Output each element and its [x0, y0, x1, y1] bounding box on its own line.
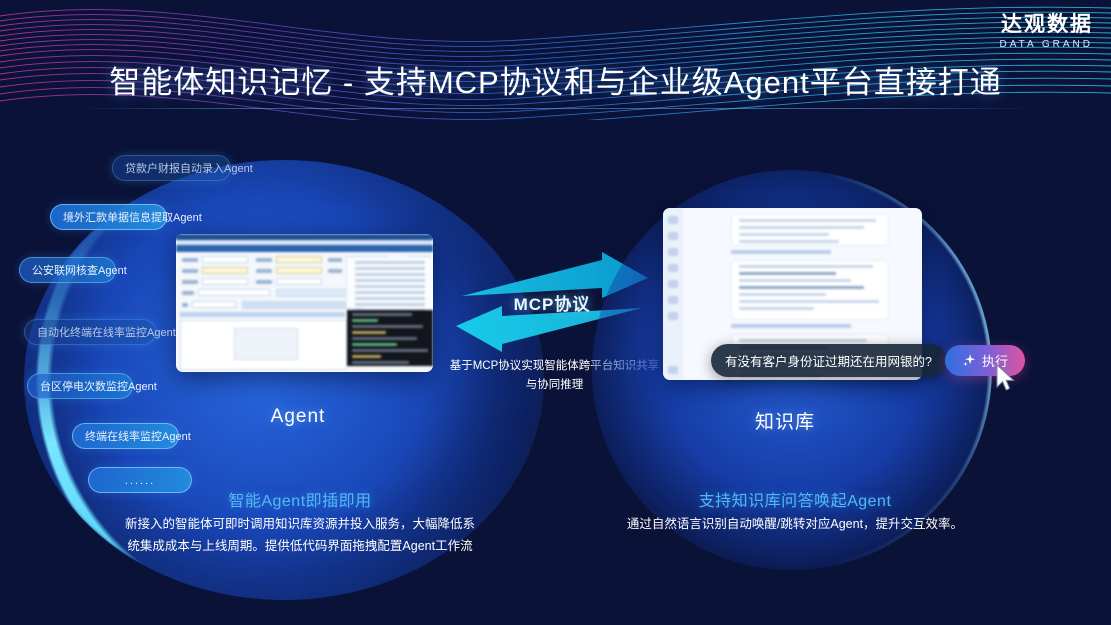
agent-circle-label: Agent [228, 406, 368, 428]
app-side-list [346, 258, 433, 308]
brand-logo: 达观数据 DATA GRAND [999, 14, 1093, 50]
agent-pill-label: 贷款户财报自动录入Agent [125, 163, 253, 175]
knowledge-base-circle-label: 知识库 [720, 407, 850, 434]
agent-pill-3[interactable]: 自动化终端在线率监控Agent [24, 319, 156, 345]
brand-name-cn: 达观数据 [999, 14, 1093, 35]
mouse-cursor-icon [995, 364, 1017, 392]
agent-pill-label: 公安联网核查Agent [32, 265, 127, 277]
page-title: 智能体知识记忆 - 支持MCP协议和与企业级Agent平台直接打通 [0, 57, 1111, 102]
slide-root: 达观数据 DATA GRAND 智能体知识记忆 - 支持MCP协议和与企业级Ag… [0, 0, 1111, 625]
agent-pill-label: ...... [125, 475, 155, 487]
agent-pill-label: 台区停电次数监控Agent [40, 381, 157, 393]
agent-app-screenshot [176, 234, 433, 372]
agent-pill-2[interactable]: 公安联网核查Agent [19, 257, 116, 283]
title-divider [74, 108, 1037, 109]
kb-sidebar [663, 208, 684, 380]
right-caption-body: 通过自然语言识别自动唤醒/跳转对应Agent，提升交互效率。 [625, 513, 965, 535]
agent-pill-1[interactable]: 境外汇款单据信息提取Agent [50, 204, 167, 230]
agent-pill-label: 自动化终端在线率监控Agent [37, 327, 176, 339]
left-caption-body: 新接入的智能体可即时调用知识库资源并投入服务，大幅降低系统集成成本与上线周期。提… [120, 513, 480, 557]
agent-pill-4[interactable]: 台区停电次数监控Agent [27, 373, 133, 399]
query-text: 有没有客户身份证过期还在用网银的? [725, 351, 932, 370]
query-input[interactable]: 有没有客户身份证过期还在用网银的? [711, 344, 947, 377]
brand-name-en: DATA GRAND [999, 40, 1093, 50]
sparkle-icon [962, 353, 977, 368]
left-caption-title: 智能Agent即插即用 [135, 487, 465, 511]
agent-pill-5[interactable]: 终端在线率监控Agent [72, 423, 179, 449]
agent-pill-label: 终端在线率监控Agent [85, 431, 191, 443]
app-terminal-panel [347, 310, 433, 366]
agent-pill-label: 境外汇款单据信息提取Agent [63, 212, 202, 224]
agent-pill-0[interactable]: 贷款户财报自动录入Agent [112, 155, 231, 181]
right-caption-title: 支持知识库问答唤起Agent [625, 487, 965, 511]
